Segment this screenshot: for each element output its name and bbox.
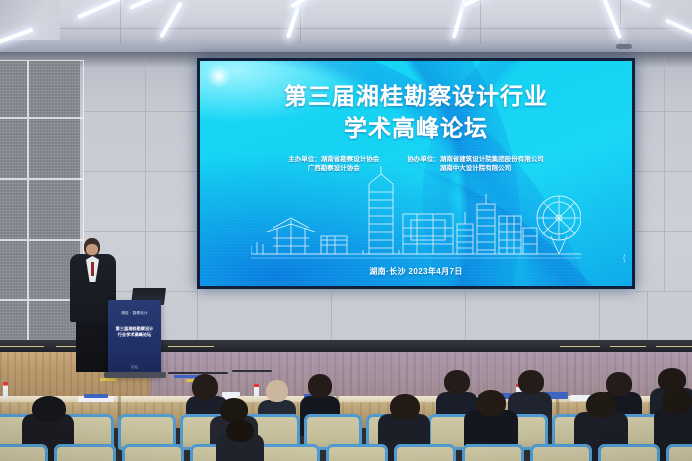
- water-bottle: [254, 384, 259, 398]
- auditorium-seat-front[interactable]: [0, 444, 48, 461]
- auditorium-seat-front[interactable]: [54, 444, 116, 461]
- auditorium-seat-front[interactable]: [666, 444, 692, 461]
- acoustic-panel-cell: [0, 118, 28, 179]
- ceiling-vent: [616, 44, 632, 49]
- acoustic-panel-cell: [0, 240, 28, 300]
- wall-panel: [146, 172, 198, 232]
- ceiling-seam-horizontal: [60, 28, 692, 29]
- audience-head: [476, 390, 506, 416]
- water-bottle: [3, 382, 8, 398]
- wall-panel: [146, 112, 198, 172]
- wall-panel: [635, 172, 665, 232]
- wall-panel: [84, 112, 146, 172]
- audience-head: [518, 370, 544, 394]
- conference-photo-scene: 第三届湘桂勘察设计行业 学术高峰论坛 主办单位：湖南省勘察设计协会 广西勘察设计…: [0, 0, 692, 461]
- speaker-tie: [91, 262, 94, 276]
- acoustic-panel-cell: [0, 179, 28, 240]
- podium-foot-text: 论坛: [108, 364, 161, 369]
- auditorium-seat-front[interactable]: [598, 444, 660, 461]
- ceiling-seam: [120, 0, 121, 44]
- screen-surface: 第三届湘桂勘察设计行业 学术高峰论坛 主办单位：湖南省勘察设计协会 广西勘察设计…: [200, 61, 632, 286]
- audience-head: [390, 394, 420, 420]
- ceiling-seam: [480, 0, 481, 44]
- audience-head: [220, 398, 248, 422]
- audience-head: [266, 380, 288, 402]
- acoustic-panel-cell: [28, 179, 84, 240]
- led-scanline-texture: [200, 61, 632, 286]
- podium-base: [104, 372, 166, 378]
- desk-paper: [222, 392, 240, 396]
- desk-folder: [84, 394, 108, 398]
- podium-sign-text: 第三届湘桂勘察设计 行业学术高峰论坛: [108, 326, 161, 338]
- audience-head: [444, 370, 470, 394]
- acoustic-panel-cell: [28, 118, 84, 179]
- floor-cable: [168, 372, 228, 374]
- wall-panel: [665, 60, 692, 112]
- audience-head: [606, 372, 632, 396]
- audience-head: [662, 388, 692, 414]
- audience-head-front: [226, 420, 254, 442]
- floor-cable-yellow: [100, 378, 116, 381]
- podium-sign-line-2: 行业学术高峰论坛: [108, 332, 161, 338]
- floor-cable: [232, 370, 272, 372]
- audience-head-with-cap: [32, 396, 66, 422]
- speaker-face: [86, 244, 98, 255]
- wall-panel: [635, 232, 665, 292]
- auditorium-seat-front[interactable]: [122, 444, 184, 461]
- auditorium-seat-front[interactable]: [394, 444, 456, 461]
- podium-lectern: 湘桂 · 勘察设计 第三届湘桂勘察设计 行业学术高峰论坛 论坛: [108, 300, 161, 375]
- wall-panel: [665, 112, 692, 172]
- wall-panel: [84, 172, 146, 232]
- audience-head: [192, 374, 218, 400]
- auditorium-seat-front[interactable]: [326, 444, 388, 461]
- audience-head: [308, 374, 332, 398]
- speaker-legs: [76, 318, 108, 372]
- audience-head: [586, 392, 616, 418]
- auditorium-seat-front[interactable]: [258, 444, 320, 461]
- podium-logo: 湘桂 · 勘察设计: [108, 311, 161, 316]
- wall-panel: [84, 60, 146, 112]
- wall-panel: [146, 232, 198, 292]
- auditorium-seat-front[interactable]: [530, 444, 592, 461]
- acoustic-panel-cell: [28, 60, 84, 118]
- auditorium-seat-front[interactable]: [462, 444, 524, 461]
- led-presentation-screen: 第三届湘桂勘察设计行业 学术高峰论坛 主办单位：湖南省勘察设计协会 广西勘察设计…: [197, 58, 635, 289]
- wall-panel: [146, 60, 198, 112]
- acoustic-panel-cell: [0, 60, 28, 118]
- wall-panel: [635, 112, 665, 172]
- wall-panel: [665, 232, 692, 292]
- wall-panel: [635, 60, 665, 112]
- wall-panel: [665, 172, 692, 232]
